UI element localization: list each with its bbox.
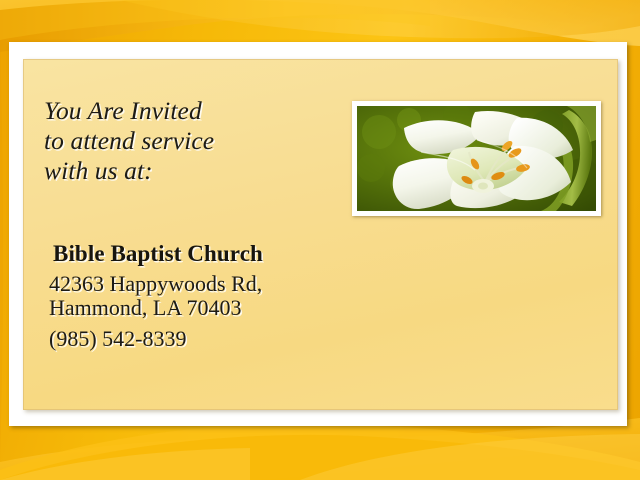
- easter-lily-photo: [357, 106, 596, 211]
- easter-lily-photo-artwork: [357, 106, 596, 211]
- invitation-headline: You Are Invited to attend service with u…: [44, 96, 344, 186]
- invitation-slide: You Are Invited to attend service with u…: [0, 0, 640, 480]
- organization-name: Bible Baptist Church: [53, 241, 263, 267]
- phone-number: (985) 542-8339: [49, 326, 186, 352]
- easter-lily-photo-frame: [352, 101, 601, 216]
- street-address: 42363 Happywoods Rd, Hammond, LA 70403: [49, 272, 379, 320]
